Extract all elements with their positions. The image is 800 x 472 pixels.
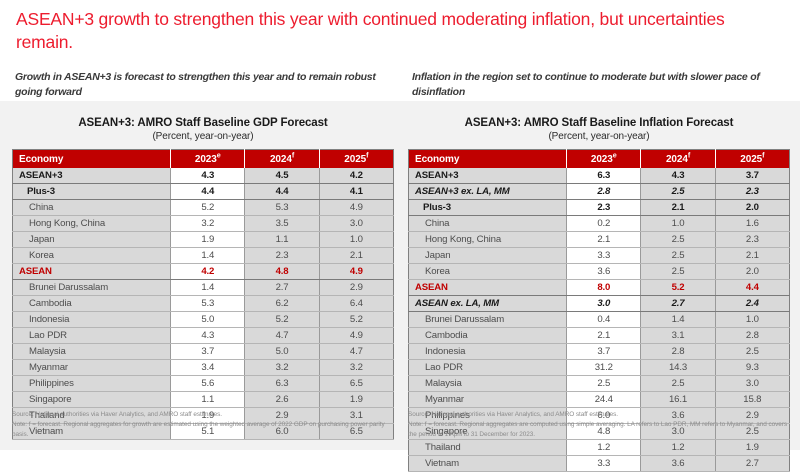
- table-row: ASEAN8.05.24.4: [409, 280, 790, 296]
- row-value-2023: 4.3: [171, 168, 245, 184]
- row-value-2025: 2.9: [319, 280, 393, 296]
- row-value-2025: 4.9: [319, 264, 393, 280]
- row-value-2025: 5.2: [319, 312, 393, 328]
- row-value-2024: 2.8: [641, 344, 715, 360]
- row-value-2025: 3.0: [319, 216, 393, 232]
- row-value-2024: 5.3: [245, 200, 319, 216]
- column-header-marker: f: [688, 151, 690, 160]
- row-value-2025: 1.0: [319, 232, 393, 248]
- gdp-source-line: Source: National authorities via Haver A…: [12, 410, 400, 420]
- table-row: Japan3.32.52.1: [409, 248, 790, 264]
- row-value-2025: 6.5: [319, 376, 393, 392]
- table-row: Japan1.91.11.0: [13, 232, 394, 248]
- gdp-table-body: ASEAN+34.34.54.2Plus-34.44.44.1China5.25…: [13, 168, 394, 440]
- table-row: China5.25.34.9: [13, 200, 394, 216]
- row-value-2025: 15.8: [715, 392, 789, 408]
- row-value-2023: 3.7: [567, 344, 641, 360]
- row-value-2024: 2.3: [245, 248, 319, 264]
- row-value-2024: 6.3: [245, 376, 319, 392]
- row-value-2025: 1.0: [715, 312, 789, 328]
- row-label: Korea: [409, 264, 567, 280]
- table-row: Lao PDR31.214.39.3: [409, 360, 790, 376]
- table-row: Korea1.42.32.1: [13, 248, 394, 264]
- row-value-2025: 4.7: [319, 344, 393, 360]
- row-value-2025: 4.2: [319, 168, 393, 184]
- table-row: Singapore1.12.61.9: [13, 392, 394, 408]
- row-label: Brunei Darussalam: [13, 280, 171, 296]
- row-value-2023: 5.0: [171, 312, 245, 328]
- row-label: Plus-3: [409, 200, 567, 216]
- row-label: Malaysia: [409, 376, 567, 392]
- table-row: Myanmar3.43.23.2: [13, 360, 394, 376]
- table-row: Indonesia3.72.82.5: [409, 344, 790, 360]
- inflation-caption: Inflation in the region set to continue …: [412, 70, 790, 100]
- row-value-2023: 3.7: [171, 344, 245, 360]
- row-value-2024: 3.6: [641, 456, 715, 472]
- table-row: Cambodia2.13.12.8: [409, 328, 790, 344]
- row-value-2024: 2.1: [641, 200, 715, 216]
- row-value-2025: 1.6: [715, 216, 789, 232]
- inflation-table-subtitle: (Percent, year-on-year): [408, 131, 790, 142]
- row-value-2023: 6.3: [567, 168, 641, 184]
- row-value-2025: 4.1: [319, 184, 393, 200]
- row-label: Hong Kong, China: [409, 232, 567, 248]
- row-label: ASEAN+3: [13, 168, 171, 184]
- gdp-caption: Growth in ASEAN+3 is forecast to strengt…: [15, 70, 390, 100]
- row-label: Indonesia: [13, 312, 171, 328]
- row-label: ASEAN: [13, 264, 171, 280]
- row-value-2023: 1.2: [567, 440, 641, 456]
- row-value-2024: 14.3: [641, 360, 715, 376]
- row-label: Korea: [13, 248, 171, 264]
- row-value-2025: 4.9: [319, 328, 393, 344]
- row-value-2024: 4.7: [245, 328, 319, 344]
- table-row: Plus-34.44.44.1: [13, 184, 394, 200]
- row-label: China: [409, 216, 567, 232]
- row-value-2025: 4.4: [715, 280, 789, 296]
- table-row: Hong Kong, China2.12.52.3: [409, 232, 790, 248]
- row-label: Thailand: [409, 440, 567, 456]
- row-value-2024: 5.0: [245, 344, 319, 360]
- row-value-2024: 4.5: [245, 168, 319, 184]
- row-label: Japan: [409, 248, 567, 264]
- table-row: Brunei Darussalam1.42.72.9: [13, 280, 394, 296]
- row-value-2023: 2.3: [567, 200, 641, 216]
- row-value-2023: 4.4: [171, 184, 245, 200]
- row-value-2023: 3.6: [567, 264, 641, 280]
- row-value-2024: 16.1: [641, 392, 715, 408]
- row-value-2023: 2.8: [567, 184, 641, 200]
- row-value-2025: 2.4: [715, 296, 789, 312]
- row-value-2023: 5.3: [171, 296, 245, 312]
- row-label: China: [13, 200, 171, 216]
- row-value-2024: 5.2: [245, 312, 319, 328]
- column-header-year-2024[interactable]: 2024f: [641, 150, 715, 169]
- row-value-2024: 3.2: [245, 360, 319, 376]
- row-label: Indonesia: [409, 344, 567, 360]
- table-row: China0.21.01.6: [409, 216, 790, 232]
- gdp-forecast-table: Economy2023e2024f2025f ASEAN+34.34.54.2P…: [12, 149, 394, 440]
- row-value-2025: 1.9: [715, 440, 789, 456]
- row-value-2025: 9.3: [715, 360, 789, 376]
- row-value-2025: 2.1: [715, 248, 789, 264]
- column-header-marker: f: [762, 151, 764, 160]
- table-row: Hong Kong, China3.23.53.0: [13, 216, 394, 232]
- row-value-2024: 4.3: [641, 168, 715, 184]
- row-value-2024: 5.2: [641, 280, 715, 296]
- gdp-header-row: Economy2023e2024f2025f: [13, 150, 394, 169]
- row-label: Singapore: [13, 392, 171, 408]
- row-value-2023: 3.4: [171, 360, 245, 376]
- column-header-year-2025[interactable]: 2025f: [715, 150, 789, 169]
- row-label: ASEAN+3: [409, 168, 567, 184]
- row-value-2024: 1.4: [641, 312, 715, 328]
- row-value-2023: 2.5: [567, 376, 641, 392]
- gdp-table-subtitle: (Percent, year-on-year): [12, 131, 394, 142]
- row-label: Myanmar: [13, 360, 171, 376]
- row-value-2025: 2.0: [715, 264, 789, 280]
- row-value-2025: 4.9: [319, 200, 393, 216]
- row-value-2024: 2.5: [641, 264, 715, 280]
- column-header-marker: e: [613, 151, 617, 160]
- table-row: Thailand1.21.21.9: [409, 440, 790, 456]
- row-label: Philippines: [13, 376, 171, 392]
- table-row: ASEAN+36.34.33.7: [409, 168, 790, 184]
- column-header-marker: e: [217, 151, 221, 160]
- row-value-2023: 0.4: [567, 312, 641, 328]
- inflation-note-line: Note: f = forecast. Regional aggregates …: [408, 420, 796, 440]
- row-label: ASEAN ex. LA, MM: [409, 296, 567, 312]
- row-value-2023: 1.4: [171, 280, 245, 296]
- row-value-2024: 1.1: [245, 232, 319, 248]
- slide-headline: ASEAN+3 growth to strengthen this year w…: [16, 8, 784, 54]
- row-value-2025: 2.5: [715, 344, 789, 360]
- row-label: ASEAN+3 ex. LA, MM: [409, 184, 567, 200]
- row-label: Hong Kong, China: [13, 216, 171, 232]
- table-row: ASEAN+3 ex. LA, MM2.82.52.3: [409, 184, 790, 200]
- gdp-table-block: ASEAN+3: AMRO Staff Baseline GDP Forecas…: [12, 116, 394, 440]
- row-value-2024: 2.7: [245, 280, 319, 296]
- column-header-year-2023[interactable]: 2023e: [567, 150, 641, 169]
- row-label: Malaysia: [13, 344, 171, 360]
- row-value-2023: 8.0: [567, 280, 641, 296]
- row-value-2025: 2.8: [715, 328, 789, 344]
- column-header-marker: f: [292, 151, 294, 160]
- row-value-2025: 3.7: [715, 168, 789, 184]
- row-value-2023: 4.3: [171, 328, 245, 344]
- table-row: Plus-32.32.12.0: [409, 200, 790, 216]
- row-value-2023: 3.3: [567, 248, 641, 264]
- inflation-source-line: Source: National authorities via Haver A…: [408, 410, 796, 420]
- row-value-2024: 3.5: [245, 216, 319, 232]
- row-label: Japan: [13, 232, 171, 248]
- row-value-2024: 2.7: [641, 296, 715, 312]
- row-value-2024: 1.2: [641, 440, 715, 456]
- row-label: Lao PDR: [13, 328, 171, 344]
- column-header-year-2023[interactable]: 2023e: [171, 150, 245, 169]
- table-row: Korea3.62.52.0: [409, 264, 790, 280]
- row-value-2024: 4.8: [245, 264, 319, 280]
- row-value-2023: 3.2: [171, 216, 245, 232]
- row-value-2024: 2.5: [641, 248, 715, 264]
- row-label: Brunei Darussalam: [409, 312, 567, 328]
- row-label: Vietnam: [409, 456, 567, 472]
- row-value-2025: 2.7: [715, 456, 789, 472]
- gdp-table-head: Economy2023e2024f2025f: [13, 150, 394, 169]
- slide-canvas: ASEAN+3 growth to strengthen this year w…: [0, 0, 800, 450]
- row-value-2023: 24.4: [567, 392, 641, 408]
- inflation-header-row: Economy2023e2024f2025f: [409, 150, 790, 169]
- row-value-2024: 6.2: [245, 296, 319, 312]
- row-value-2023: 3.3: [567, 456, 641, 472]
- gdp-table-title: ASEAN+3: AMRO Staff Baseline GDP Forecas…: [12, 116, 394, 130]
- row-value-2025: 2.1: [319, 248, 393, 264]
- table-row: Indonesia5.05.25.2: [13, 312, 394, 328]
- row-value-2024: 4.4: [245, 184, 319, 200]
- table-row: Vietnam3.33.62.7: [409, 456, 790, 472]
- table-row: Lao PDR4.34.74.9: [13, 328, 394, 344]
- row-value-2023: 1.4: [171, 248, 245, 264]
- row-value-2024: 2.5: [641, 376, 715, 392]
- row-value-2023: 2.1: [567, 232, 641, 248]
- column-header-economy[interactable]: Economy: [409, 150, 567, 169]
- column-header-year-2025[interactable]: 2025f: [319, 150, 393, 169]
- gdp-footnote: Source: National authorities via Haver A…: [12, 410, 400, 440]
- table-row: ASEAN4.24.84.9: [13, 264, 394, 280]
- column-header-economy[interactable]: Economy: [13, 150, 171, 169]
- table-row: Malaysia2.52.53.0: [409, 376, 790, 392]
- row-label: Lao PDR: [409, 360, 567, 376]
- row-value-2023: 5.2: [171, 200, 245, 216]
- table-row: Malaysia3.75.04.7: [13, 344, 394, 360]
- row-value-2024: 2.5: [641, 184, 715, 200]
- row-value-2024: 2.6: [245, 392, 319, 408]
- table-row: ASEAN+34.34.54.2: [13, 168, 394, 184]
- row-value-2024: 2.5: [641, 232, 715, 248]
- row-value-2025: 2.3: [715, 232, 789, 248]
- row-value-2023: 4.2: [171, 264, 245, 280]
- row-value-2025: 1.9: [319, 392, 393, 408]
- row-value-2025: 3.0: [715, 376, 789, 392]
- column-header-marker: f: [366, 151, 368, 160]
- table-row: Cambodia5.36.26.4: [13, 296, 394, 312]
- row-value-2025: 2.0: [715, 200, 789, 216]
- gdp-note-line: Note: f = forecast. Regional aggregates …: [12, 420, 400, 440]
- row-label: Cambodia: [409, 328, 567, 344]
- table-row: Philippines5.66.36.5: [13, 376, 394, 392]
- row-value-2023: 0.2: [567, 216, 641, 232]
- column-header-year-2024[interactable]: 2024f: [245, 150, 319, 169]
- row-value-2023: 1.1: [171, 392, 245, 408]
- row-label: ASEAN: [409, 280, 567, 296]
- row-value-2025: 6.4: [319, 296, 393, 312]
- row-value-2023: 31.2: [567, 360, 641, 376]
- table-row: Brunei Darussalam0.41.41.0: [409, 312, 790, 328]
- row-value-2025: 3.2: [319, 360, 393, 376]
- inflation-table-title: ASEAN+3: AMRO Staff Baseline Inflation F…: [408, 116, 790, 130]
- row-value-2023: 1.9: [171, 232, 245, 248]
- row-value-2023: 5.6: [171, 376, 245, 392]
- row-value-2024: 1.0: [641, 216, 715, 232]
- row-value-2023: 3.0: [567, 296, 641, 312]
- row-label: Myanmar: [409, 392, 567, 408]
- row-value-2025: 2.3: [715, 184, 789, 200]
- table-row: ASEAN ex. LA, MM3.02.72.4: [409, 296, 790, 312]
- row-value-2024: 3.1: [641, 328, 715, 344]
- table-row: Myanmar24.416.115.8: [409, 392, 790, 408]
- inflation-table-head: Economy2023e2024f2025f: [409, 150, 790, 169]
- inflation-footnote: Source: National authorities via Haver A…: [408, 410, 796, 440]
- row-label: Plus-3: [13, 184, 171, 200]
- row-value-2023: 2.1: [567, 328, 641, 344]
- row-label: Cambodia: [13, 296, 171, 312]
